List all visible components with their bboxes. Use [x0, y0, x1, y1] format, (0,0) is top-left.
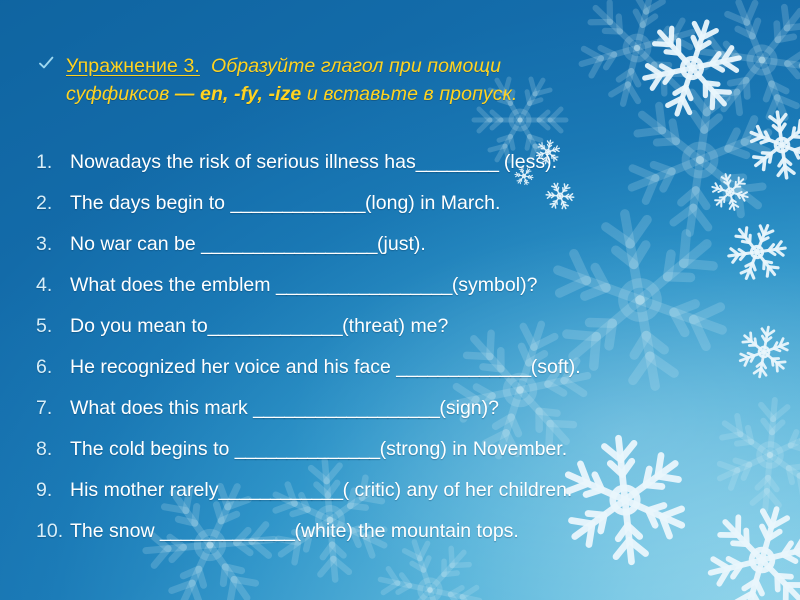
exercise-item: 9.His mother rarely____________( critic)…	[36, 478, 766, 519]
exercise-item-text: His mother rarely____________( critic) a…	[70, 478, 572, 502]
exercise-item-number: 5.	[36, 314, 70, 338]
exercise-item-blank[interactable]: _____________	[208, 315, 343, 337]
exercise-item-suffix: (just).	[377, 233, 426, 255]
exercise-list: 1.Nowadays the risk of serious illness h…	[36, 150, 766, 560]
exercise-item-suffix: (long) in March.	[365, 192, 500, 214]
exercise-item-blank[interactable]: _____________	[160, 520, 295, 542]
exercise-title-lead: Упражнение 3.	[66, 55, 200, 77]
exercise-item-number: 10.	[36, 519, 70, 543]
exercise-item-prefix: The snow	[70, 520, 160, 542]
exercise-item-suffix: (symbol)?	[452, 274, 538, 296]
exercise-item-blank[interactable]: ______________	[235, 438, 380, 460]
exercise-item-blank[interactable]: ____________	[218, 479, 342, 501]
exercise-item-prefix: No war can be	[70, 233, 201, 255]
exercise-item-suffix: (strong) in November.	[380, 438, 568, 460]
exercise-item-prefix: Nowadays the risk of serious illness has	[70, 151, 416, 173]
exercise-item-blank[interactable]: _________________	[276, 274, 452, 296]
exercise-item-text: No war can be _________________(just).	[70, 232, 426, 256]
exercise-item: 3.No war can be _________________(just).	[36, 232, 766, 273]
exercise-item-text: The cold begins to ______________(strong…	[70, 437, 567, 461]
exercise-item-number: 6.	[36, 355, 70, 379]
exercise-item-blank[interactable]: _____________	[396, 356, 531, 378]
exercise-item: 6.He recognized her voice and his face _…	[36, 355, 766, 396]
exercise-item: 2.The days begin to _____________(long) …	[36, 191, 766, 232]
exercise-item: 10.The snow _____________(white) the mou…	[36, 519, 766, 560]
exercise-item: 8.The cold begins to ______________(stro…	[36, 437, 766, 478]
exercise-item-suffix: (soft).	[531, 356, 581, 378]
exercise-item: 7.What does this mark __________________…	[36, 396, 766, 437]
exercise-item-blank[interactable]: ________	[416, 151, 499, 173]
exercise-item-blank[interactable]: _________________	[201, 233, 377, 255]
exercise-item-number: 9.	[36, 478, 70, 502]
exercise-item-text: The days begin to _____________(long) in…	[70, 191, 500, 215]
exercise-item-text: The snow _____________(white) the mounta…	[70, 519, 519, 543]
slide-content: Упражнение 3. Образуйте глагол при помощ…	[0, 0, 800, 600]
exercise-item-prefix: Do you mean to	[70, 315, 208, 337]
exercise-item-text: What does this mark __________________(s…	[70, 396, 499, 420]
exercise-item-suffix: (threat) me?	[342, 315, 448, 337]
exercise-item-blank[interactable]: __________________	[253, 397, 439, 419]
exercise-item-blank[interactable]: _____________	[230, 192, 365, 214]
exercise-item-prefix: The days begin to	[70, 192, 230, 214]
exercise-item: 1.Nowadays the risk of serious illness h…	[36, 150, 766, 191]
exercise-title: Упражнение 3. Образуйте глагол при помощ…	[38, 52, 598, 108]
exercise-item-prefix: He recognized her voice and his face	[70, 356, 396, 378]
check-icon	[38, 55, 54, 77]
exercise-item-number: 8.	[36, 437, 70, 461]
exercise-item-prefix: What does this mark	[70, 397, 253, 419]
exercise-title-instruction-part2: и вставьте в пропуск.	[301, 83, 517, 105]
exercise-item-prefix: His mother rarely	[70, 479, 218, 501]
exercise-item-number: 3.	[36, 232, 70, 256]
exercise-item-text: He recognized her voice and his face ___…	[70, 355, 581, 379]
exercise-item-suffix: (sign)?	[439, 397, 499, 419]
exercise-item-prefix: The cold begins to	[70, 438, 235, 460]
slide-canvas: Упражнение 3. Образуйте глагол при помощ…	[0, 0, 800, 600]
exercise-item-number: 7.	[36, 396, 70, 420]
exercise-title-text: Упражнение 3. Образуйте глагол при помощ…	[66, 52, 598, 108]
exercise-item-number: 2.	[36, 191, 70, 215]
exercise-item-prefix: What does the emblem	[70, 274, 276, 296]
exercise-item-text: Do you mean to_____________(threat) me?	[70, 314, 448, 338]
exercise-item-suffix: (less).	[499, 151, 558, 173]
exercise-item-text: Nowadays the risk of serious illness has…	[70, 150, 557, 174]
exercise-item-suffix: (white) the mountain tops.	[294, 520, 518, 542]
exercise-item-text: What does the emblem _________________(s…	[70, 273, 537, 297]
exercise-item-number: 4.	[36, 273, 70, 297]
exercise-item: 4.What does the emblem _________________…	[36, 273, 766, 314]
exercise-item-suffix: ( critic) any of her children.	[343, 479, 573, 501]
exercise-item: 5.Do you mean to_____________(threat) me…	[36, 314, 766, 355]
exercise-item-number: 1.	[36, 150, 70, 174]
exercise-title-suffixes: — en, -fy, -ize	[175, 83, 301, 105]
